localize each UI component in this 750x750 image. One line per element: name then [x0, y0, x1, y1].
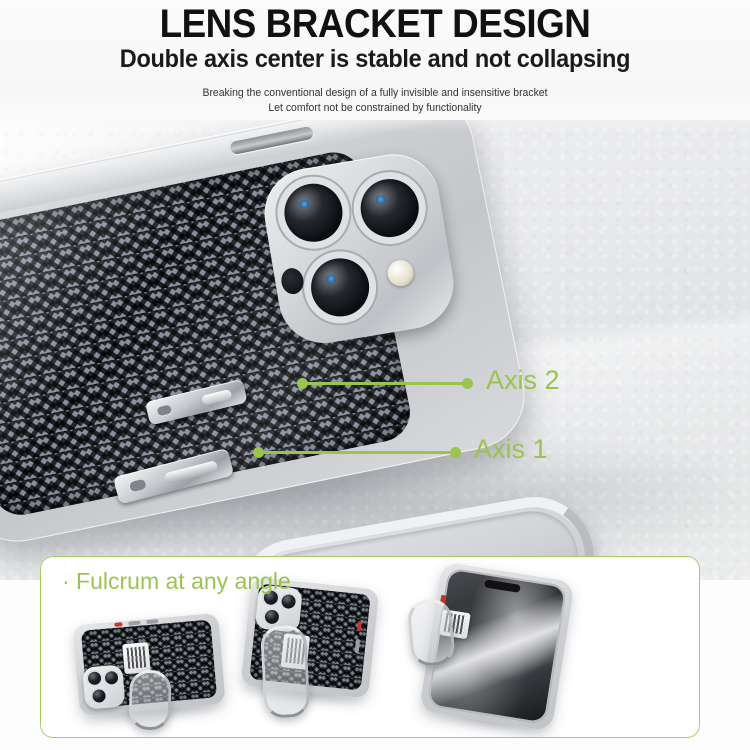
callout-label-axis-2: Axis 2: [486, 367, 560, 394]
description-line-2: Let comfort not be constrained by functi…: [19, 101, 732, 116]
page-subtitle: Double axis center is stable and not col…: [23, 45, 728, 73]
panel-phone-steep-angle: [241, 576, 380, 699]
phone-button-red: [114, 622, 122, 627]
panel-phone-front-screen: [419, 560, 575, 731]
product-marketing-image: Axis 2 Axis 1 LENS BRACKET DESIGN Double…: [0, 0, 750, 750]
callout-anchor-dot-axis-2: [297, 378, 308, 389]
phone-kickstand: [129, 670, 172, 731]
product-scene: [0, 120, 750, 580]
header: LENS BRACKET DESIGN Double axis center i…: [0, 0, 750, 132]
callout-leader-line-axis-2: [300, 382, 468, 385]
callout-end-dot-axis-1: [450, 447, 461, 458]
phone-lens-3: [92, 689, 106, 703]
phone-lens-2: [281, 594, 296, 609]
callout-anchor-dot-axis-1: [253, 447, 264, 458]
page-title: LENS BRACKET DESIGN: [30, 2, 720, 46]
description-line-1: Breaking the conventional design of a fu…: [19, 86, 732, 101]
phone-lens-1: [87, 671, 101, 685]
phone-lens-3: [264, 609, 279, 624]
panel-title: · Fulcrum at any angle: [62, 568, 291, 594]
phone-kickstand: [407, 598, 457, 668]
callout-end-dot-axis-2: [462, 378, 473, 389]
phone-kickstand: [260, 624, 311, 718]
phone-camera-module: [82, 664, 126, 709]
callout-leader-line-axis-1: [256, 451, 456, 454]
phone-lens-2: [105, 671, 119, 685]
phone-notch: [484, 579, 521, 593]
panel-phone-low-angle: [72, 612, 225, 716]
fulcrum-panel: · Fulcrum at any angle: [40, 556, 700, 738]
callout-label-axis-1: Axis 1: [474, 436, 548, 463]
